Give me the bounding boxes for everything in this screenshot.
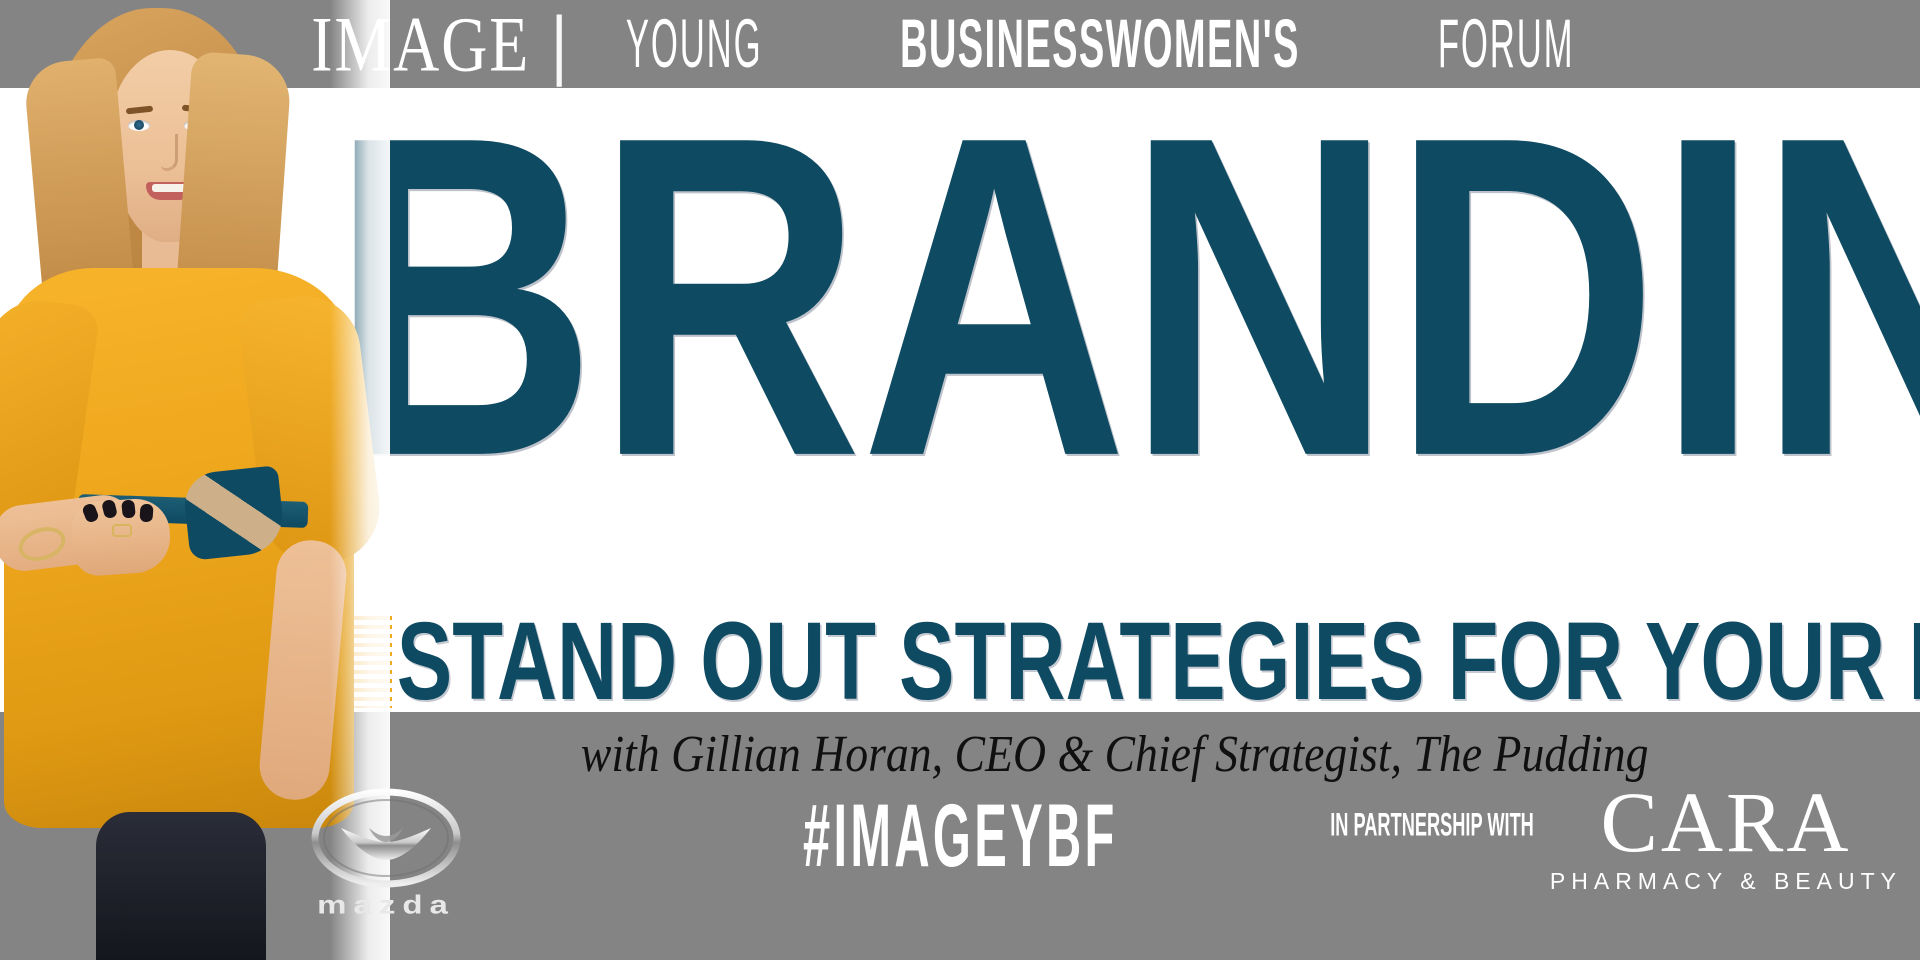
headline-text: BRANDING <box>330 120 1920 476</box>
partner-label: IN PARTNERSHIP WITH <box>1330 808 1534 841</box>
fingernail <box>121 499 136 518</box>
subtitle-container: STAND OUT STRATEGIES FOR YOUR BUSINESS <box>330 608 1900 716</box>
header-word-forum: FORUM <box>1438 10 1575 78</box>
mazda-wordmark: mazda <box>317 890 455 920</box>
nose <box>161 134 178 171</box>
hashtag-text: #IMAGEYBF <box>803 792 1118 881</box>
header-word-young: YOUNG <box>625 10 762 78</box>
header-word-businesswomens: BUSINESSWOMEN'S <box>899 10 1301 78</box>
subtitle-text: STAND OUT STRATEGIES FOR YOUR BUSINESS <box>392 607 1920 717</box>
image-wordmark: IMAGE <box>311 5 539 84</box>
ring <box>112 524 132 537</box>
header-divider: | <box>547 6 584 83</box>
mazda-logo-icon <box>311 786 461 890</box>
fingernail <box>139 504 153 523</box>
header-title-row: IMAGE | YOUNG BUSINESSWOMEN'S FORUM <box>0 0 1920 88</box>
cara-tagline: PHARMACY & BEAUTY <box>1550 870 1902 893</box>
cara-wordmark: CARA <box>1600 782 1851 864</box>
cara-logo: CARA PHARMACY & BEAUTY <box>1550 782 1902 893</box>
iris-left <box>134 120 144 130</box>
sponsor-cara: IN PARTNERSHIP WITH CARA PHARMACY & BEAU… <box>1243 782 1902 893</box>
sponsor-mazda: mazda <box>296 786 476 936</box>
headline-container: BRANDING <box>330 88 1890 508</box>
event-banner: BRANDING IMAGE | YOUNG BUSINESSWOMEN'S F… <box>0 0 1920 960</box>
